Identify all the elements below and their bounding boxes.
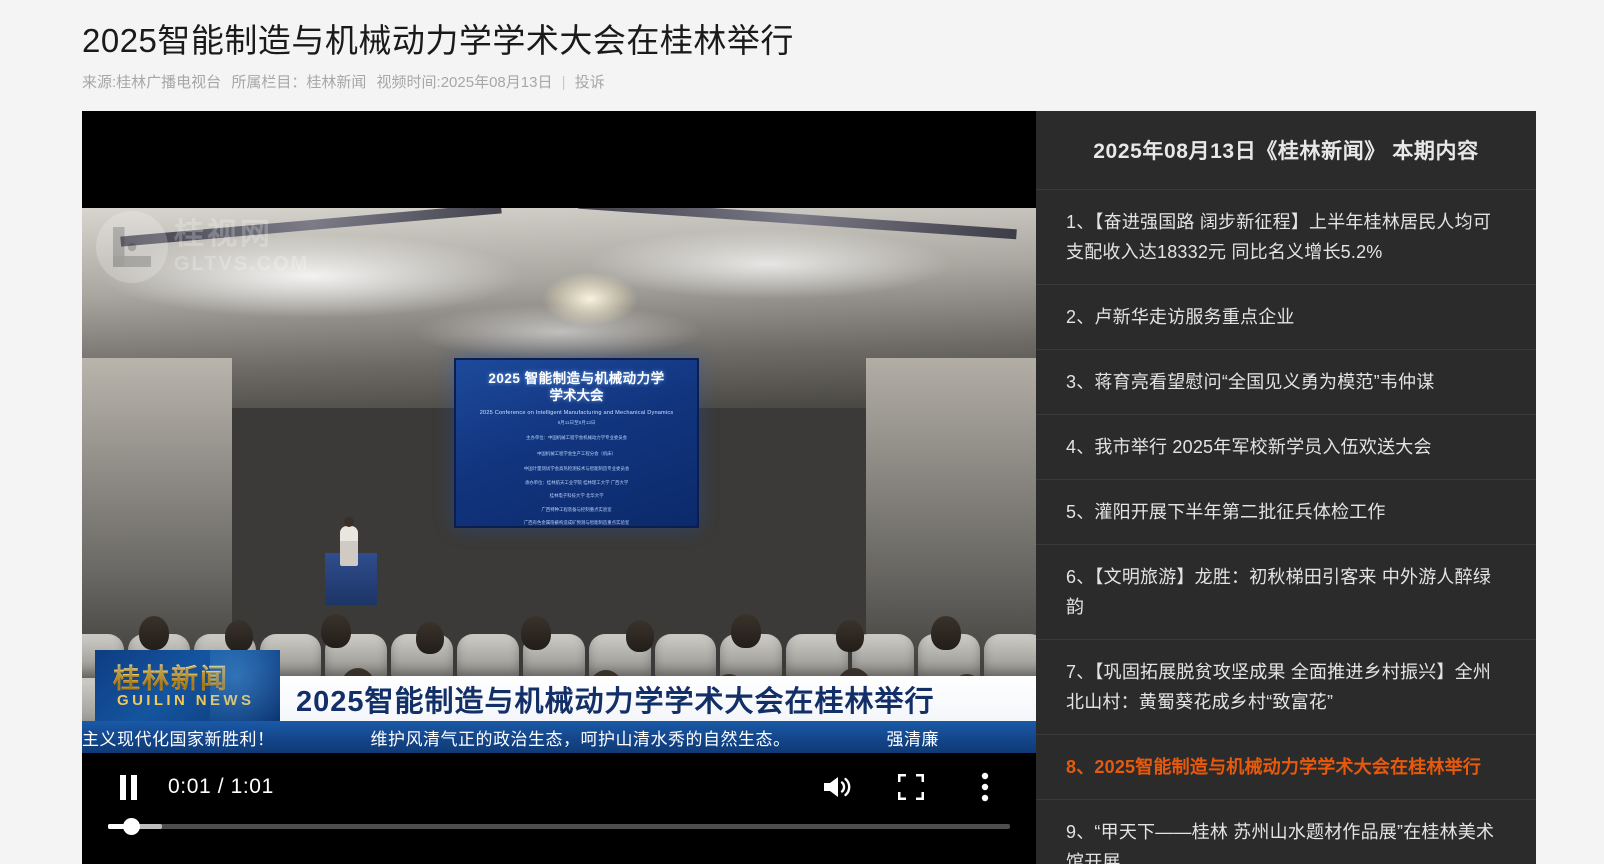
guilin-news-logo: 桂林新闻 GUILIN NEWS (95, 650, 280, 721)
video-frame: 2025 智能制造与机械动力学 学术大会 2025 Conference on … (82, 111, 1036, 864)
playlist-item[interactable]: 2、卢新华走访服务重点企业 (1036, 285, 1536, 350)
ticker-segment-1: 主义现代化国家新胜利！ (82, 725, 275, 750)
article-meta: 来源:桂林广播电视台 所属栏目：桂林新闻 视频时间:2025年08月13日 | … (82, 73, 1542, 93)
playlist-item-index: 9、 (1066, 822, 1094, 842)
screen-title-line2: 学术大会 (456, 387, 697, 405)
playlist-item-index: 8、 (1066, 757, 1094, 777)
screen-date: 8月11日至8月13日 (456, 420, 697, 426)
volume-icon (822, 774, 852, 800)
fullscreen-button[interactable] (888, 765, 934, 809)
playlist-item-title: 【奋进强国路 阔步新征程】上半年桂林居民人均可支配收入达18332元 同比名义增… (1066, 212, 1491, 262)
playlist-item[interactable]: 9、“甲天下——桂林 苏州山水题材作品展”在桂林美术馆开展 (1036, 800, 1536, 864)
video-player[interactable]: 2025 智能制造与机械动力学 学术大会 2025 Conference on … (82, 111, 1036, 864)
chandelier (530, 264, 650, 334)
meta-video-date: 视频时间:2025年08月13日 (377, 74, 553, 91)
playlist-item-index: 1、 (1066, 212, 1094, 232)
playlist-header: 2025年08月13日《桂林新闻》 本期内容 (1036, 111, 1536, 190)
volume-button[interactable] (814, 765, 860, 809)
page-title: 2025智能制造与机械动力学学术大会在桂林举行 (82, 18, 1542, 64)
ticker-segment-2: 维护风清气正的政治生态，呵护山清水秀的自然生态。 (371, 725, 791, 750)
episode-playlist: 2025年08月13日《桂林新闻》 本期内容 1、【奋进强国路 阔步新征程】上半… (1036, 111, 1536, 864)
meta-separator: | (557, 74, 571, 91)
channel-watermark: 桂视网 GLTVS.COM (96, 211, 309, 283)
more-options-icon (981, 772, 989, 802)
playlist-item-title: 【巩固拓展脱贫攻坚成果 全面推进乡村振兴】全州北山村：黄蜀葵花成乡村“致富花” (1066, 662, 1491, 712)
playlist-item-title: “甲天下——桂林 苏州山水题材作品展”在桂林美术馆开展 (1066, 822, 1494, 864)
progress-bar[interactable] (108, 818, 1010, 834)
letterbox-top (82, 111, 1036, 208)
meta-source: 来源:桂林广播电视台 (82, 74, 221, 91)
gltvs-logo-icon (96, 211, 168, 283)
meta-column: 所属栏目：桂林新闻 (231, 74, 366, 91)
content-stage: 2025 智能制造与机械动力学 学术大会 2025 Conference on … (82, 111, 1536, 864)
speaker-person (340, 526, 358, 566)
playlist-item-title: 【文明旅游】龙胜：初秋梯田引客来 中外游人醉绿韵 (1066, 567, 1491, 617)
headline-bar: 2025智能制造与机械动力学学术大会在桂林举行 (280, 676, 1036, 721)
logo-en-text: GUILIN NEWS (117, 692, 254, 709)
playlist-item-title: 我市举行 2025年军校新学员入伍欢送大会 (1094, 437, 1431, 457)
time-display: 0:01 / 1:01 (168, 775, 274, 799)
page-header: 2025智能制造与机械动力学学术大会在桂林举行 来源:桂林广播电视台 所属栏目：… (82, 18, 1542, 93)
playlist-item-title: 卢新华走访服务重点企业 (1094, 307, 1294, 327)
playlist-item[interactable]: 4、我市举行 2025年军校新学员入伍欢送大会 (1036, 415, 1536, 480)
player-controls: 0:01 / 1:01 (82, 753, 1036, 864)
fullscreen-icon (898, 774, 924, 800)
playlist-header-text: 2025年08月13日《桂林新闻》 本期内容 (1093, 135, 1478, 165)
projection-screen: 2025 智能制造与机械动力学 学术大会 2025 Conference on … (454, 358, 699, 528)
screen-organizer-line3: 中国计量测试学会高热检测技术与智能制造专业委员会 (456, 465, 697, 473)
playlist-item-title: 2025智能制造与机械动力学学术大会在桂林举行 (1094, 757, 1481, 777)
playlist-item-index: 3、 (1066, 372, 1094, 392)
playlist-item-index: 5、 (1066, 502, 1094, 522)
pause-button[interactable] (108, 767, 148, 807)
playlist-item-index: 4、 (1066, 437, 1094, 457)
news-video-page: 2025智能制造与机械动力学学术大会在桂林举行 来源:桂林广播电视台 所属栏目：… (0, 0, 1604, 864)
watermark-en-text: GLTVS.COM (174, 254, 309, 274)
headline-text: 2025智能制造与机械动力学学术大会在桂林举行 (296, 678, 935, 720)
screen-host-line2: 桂林电子科技大学 北华大学 (456, 492, 697, 500)
playlist-item[interactable]: 1、【奋进强国路 阔步新征程】上半年桂林居民人均可支配收入达18332元 同比名… (1036, 190, 1536, 285)
more-options-button[interactable] (962, 765, 1008, 809)
playlist-item-title: 灌阳开展下半年第二批征兵体检工作 (1094, 502, 1385, 522)
progress-track (108, 824, 1010, 829)
screen-host-line4: 广西有色金属隐蔽构造成矿预测与智能制造重点实验室 (456, 519, 697, 527)
screen-organizer-line2: 中国机械工程学会生产工程分会（机床） (456, 450, 697, 458)
screen-host-line1: 承办单位：桂林航天工业学院 桂林理工大学 广西大学 (456, 479, 697, 487)
playlist-item-index: 6、 (1066, 567, 1094, 587)
progress-handle[interactable] (123, 818, 140, 835)
playlist-item-title: 蒋育亮看望慰问“全国见义勇为模范”韦仲谋 (1094, 372, 1434, 392)
watermark-cn-text: 桂视网 (174, 220, 309, 250)
playlist-item[interactable]: 3、蒋育亮看望慰问“全国见义勇为模范”韦仲谋 (1036, 350, 1536, 415)
ticker-text: 主义现代化国家新胜利！ 维护风清气正的政治生态，呵护山清水秀的自然生态。 强清廉 (82, 725, 939, 750)
playlist-items: 1、【奋进强国路 阔步新征程】上半年桂林居民人均可支配收入达18332元 同比名… (1036, 190, 1536, 864)
complain-link[interactable]: 投诉 (575, 74, 605, 91)
ticker-segment-3: 强清廉 (887, 725, 940, 750)
screen-organizer-line1: 主办单位：中国机械工程学会机械动力学专业委员会 (456, 434, 697, 442)
lower-third-banner: 桂林新闻 GUILIN NEWS 2025智能制造与机械动力学学术大会在桂林举行… (82, 650, 1036, 753)
screen-host-line3: 广西特种工程装备与控制重点实验室 (456, 506, 697, 514)
news-ticker: 主义现代化国家新胜利！ 维护风清气正的政治生态，呵护山清水秀的自然生态。 强清廉 (82, 721, 1036, 753)
playlist-item[interactable]: 7、【巩固拓展脱贫攻坚成果 全面推进乡村振兴】全州北山村：黄蜀葵花成乡村“致富花… (1036, 640, 1536, 735)
playlist-item-index: 2、 (1066, 307, 1094, 327)
playlist-item[interactable]: 6、【文明旅游】龙胜：初秋梯田引客来 中外游人醉绿韵 (1036, 545, 1536, 640)
logo-cn-text: 桂林新闻 (113, 657, 229, 696)
playlist-item-index: 7、 (1066, 662, 1094, 682)
playlist-item[interactable]: 5、灌阳开展下半年第二批征兵体检工作 (1036, 480, 1536, 545)
screen-title-line1: 2025 智能制造与机械动力学 (456, 370, 697, 387)
screen-subtitle-en: 2025 Conference on Intelligent Manufactu… (456, 410, 697, 416)
playlist-item[interactable]: 8、2025智能制造与机械动力学学术大会在桂林举行 (1036, 735, 1536, 800)
pause-icon (120, 775, 137, 800)
